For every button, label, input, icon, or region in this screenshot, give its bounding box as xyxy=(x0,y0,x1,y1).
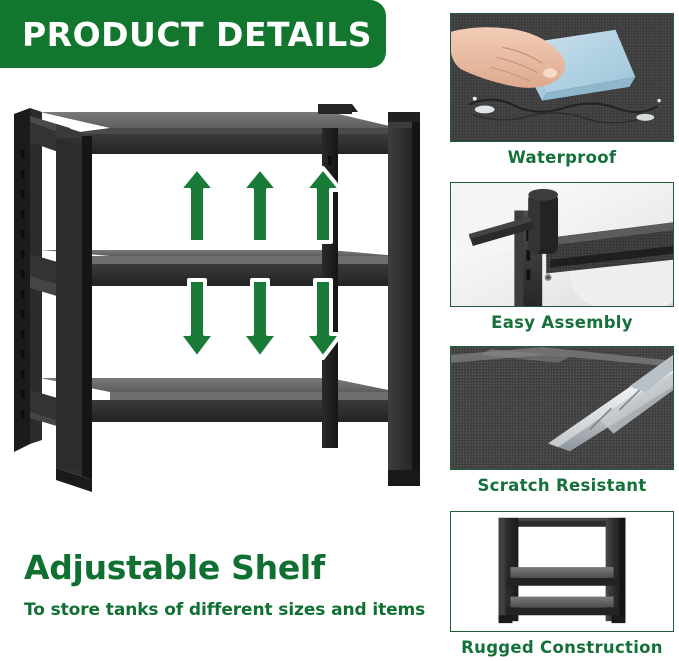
feature-label-rugged-construction: Rugged Construction xyxy=(450,638,674,657)
feature-list: Waterproof xyxy=(450,0,679,661)
feature-card-waterproof: Waterproof xyxy=(450,13,674,167)
arrow-down xyxy=(242,280,278,358)
product-details-infographic: PRODUCT DETAILS xyxy=(0,0,679,661)
feature-label-scratch-resistant: Scratch Resistant xyxy=(450,476,674,495)
feature-card-easy-assembly: Easy Assembly xyxy=(450,182,674,332)
feature-image-rugged-construction xyxy=(450,511,674,632)
hero-heading: Adjustable Shelf xyxy=(24,548,424,587)
shelf-unit xyxy=(14,104,420,492)
feature-card-scratch-resistant: Scratch Resistant xyxy=(450,346,674,495)
arrow-up xyxy=(242,168,278,242)
feature-image-waterproof xyxy=(450,13,674,142)
front-right-post xyxy=(388,118,420,486)
feature-card-rugged-construction: Rugged Construction xyxy=(450,511,674,657)
feature-label-waterproof: Waterproof xyxy=(450,148,674,167)
arrow-down xyxy=(179,280,215,358)
header-banner: PRODUCT DETAILS xyxy=(0,0,386,68)
front-left-post xyxy=(56,124,92,492)
feature-label-easy-assembly: Easy Assembly xyxy=(450,313,674,332)
adjustment-arrows-up xyxy=(179,168,341,242)
adjustment-arrows-down xyxy=(179,280,341,358)
feature-image-easy-assembly xyxy=(450,182,674,307)
arrow-up xyxy=(179,168,215,242)
page-title: PRODUCT DETAILS xyxy=(22,15,372,54)
hero-subtitle: To store tanks of different sizes and it… xyxy=(24,600,434,620)
product-hero-image xyxy=(0,72,440,542)
feature-image-scratch-resistant xyxy=(450,346,674,470)
